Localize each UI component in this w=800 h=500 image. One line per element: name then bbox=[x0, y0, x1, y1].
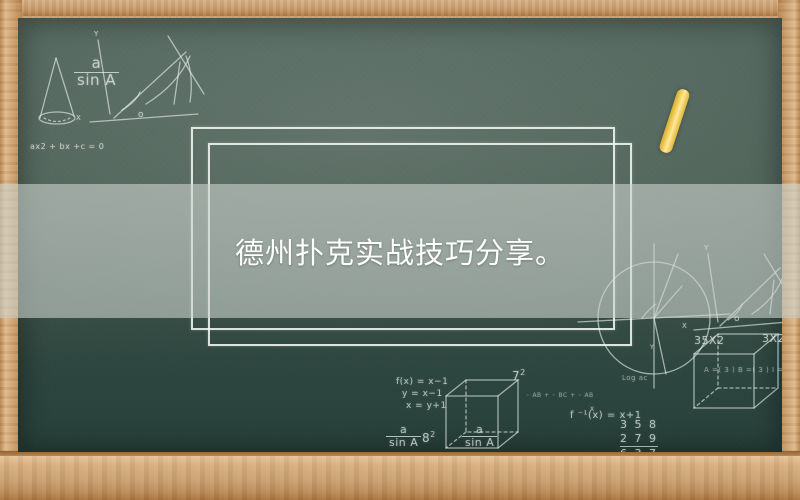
chalk-matrix-3x2: 3X2 bbox=[762, 332, 782, 345]
page-title: 德州扑克实战技巧分享。 bbox=[235, 230, 565, 272]
chalk-function-line-1: f(x) = x−1 bbox=[396, 376, 448, 388]
chalk-log-ac: Log ac bbox=[622, 374, 648, 382]
chalk-matrix-35x2: 35X2 bbox=[694, 334, 725, 347]
chalk-long-division-1: 3 5 8 bbox=[620, 418, 658, 432]
frame-ledge-bottom bbox=[0, 456, 800, 500]
chalk-axis-label-x-1: X bbox=[76, 114, 81, 122]
chalk-axis-label-y-2: Y bbox=[650, 344, 654, 351]
chalk-exponent-7: 72 bbox=[512, 368, 526, 383]
chalk-long-division: 3 5 8 2 7 9 6 3 7 bbox=[620, 418, 658, 452]
chalk-function-line-3: x = y+1 bbox=[396, 400, 448, 412]
chalk-law-of-sines-3: a sin A bbox=[462, 424, 497, 449]
chalk-function-line-2: y = x−1 bbox=[396, 388, 448, 400]
chalk-axis-label-y-1: Y bbox=[94, 30, 99, 38]
chalk-angle-label-1: o bbox=[138, 110, 144, 120]
chalk-abc-sum: ◦ AB + ◦ BC + ◦ AB bbox=[526, 392, 594, 399]
chalk-matrix-row: A =( 3 ) B =( 3 ) I =( 3 ) bbox=[704, 366, 782, 374]
chalk-law-of-sines-2: a sin A bbox=[386, 424, 421, 449]
chalk-quadratic-equation: ax2 + bx +c = 0 bbox=[30, 142, 104, 151]
title-overlay-band: 德州扑克实战技巧分享。 bbox=[0, 184, 800, 318]
chalk-function-group: f(x) = x−1 y = x−1 x = y+1 bbox=[396, 376, 448, 412]
chalk-law-of-sines-1: a sin A bbox=[74, 56, 119, 89]
chalk-axis-label-x-2: X bbox=[590, 406, 595, 413]
chalk-long-division-3: 6 3 7 bbox=[620, 447, 658, 453]
chalk-long-division-2: 2 7 9 bbox=[620, 432, 658, 447]
chalkboard-banner: a sin A ax2 + bx +c = 0 Y X o o Y X f(x)… bbox=[0, 0, 800, 500]
chalk-axis-label-x-3: X bbox=[682, 322, 687, 330]
chalk-exponent-8: 82 bbox=[422, 430, 436, 445]
frame-rail-top bbox=[0, 0, 800, 16]
